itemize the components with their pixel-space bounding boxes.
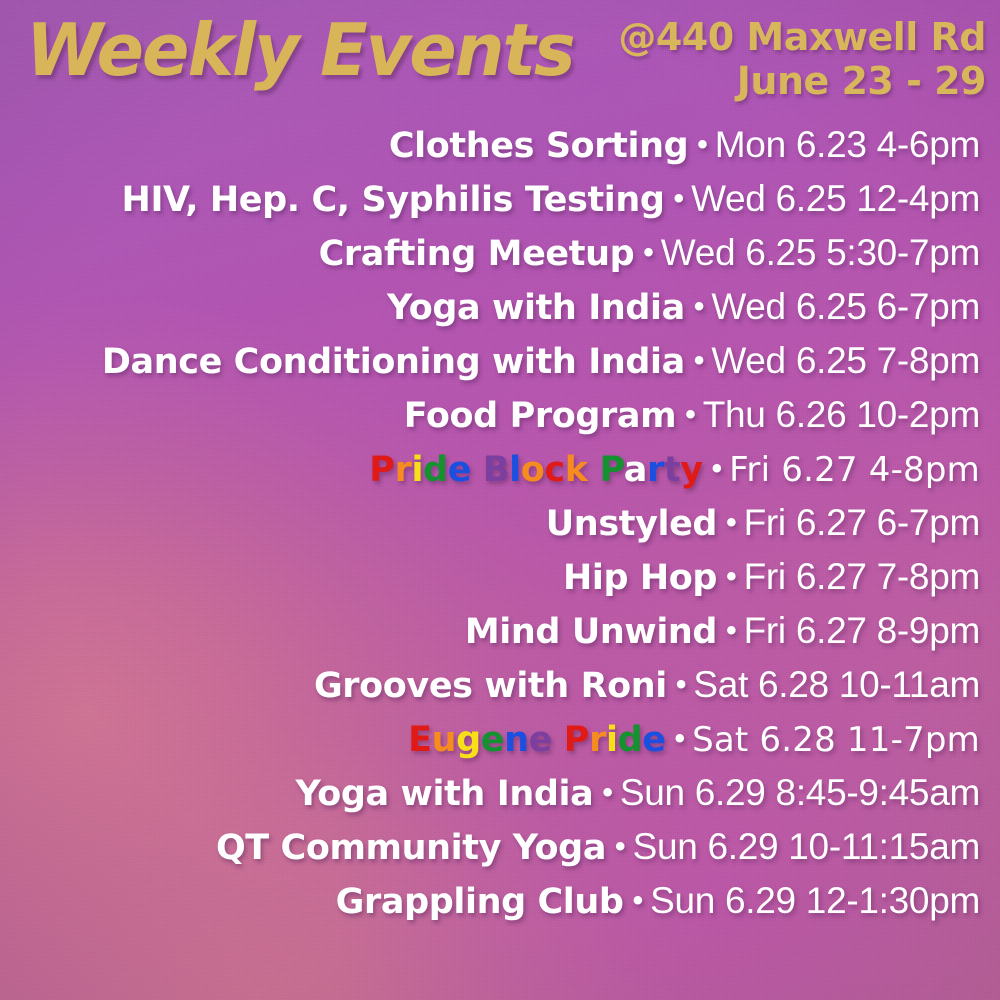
bullet-separator-icon: •	[667, 668, 694, 701]
event-title-letter: d	[618, 720, 643, 760]
bullet-separator-icon: •	[703, 452, 730, 485]
bullet-separator-icon: •	[717, 506, 744, 539]
event-row: Clothes Sorting•Mon 6.23 4-6pm	[0, 118, 980, 172]
event-title-letter: o	[521, 450, 545, 490]
event-title-letter: e	[642, 720, 665, 760]
event-title: Dance Conditioning with India	[102, 342, 685, 382]
bullet-separator-icon: •	[688, 128, 715, 161]
event-time: Mon 6.23 4-6pm	[715, 124, 980, 165]
bullet-separator-icon: •	[634, 236, 661, 269]
event-title: Mind Unwind	[465, 612, 717, 652]
event-row: Mind Unwind•Fri 6.27 8-9pm	[0, 604, 980, 658]
event-title: Yoga with India	[296, 774, 594, 814]
event-title: Unstyled	[546, 504, 717, 544]
event-title-letter: c	[544, 450, 564, 490]
event-title-letter: t	[664, 450, 680, 490]
event-time: Fri 6.27 6-7pm	[744, 502, 980, 543]
event-title: QT Community Yoga	[216, 828, 606, 868]
event-title: Food Program	[404, 396, 676, 436]
event-title: Clothes Sorting	[389, 126, 688, 166]
event-title-letter: P	[564, 720, 589, 760]
event-title-letter: r	[647, 450, 664, 490]
event-title: Grooves with Roni	[314, 666, 667, 706]
event-title: Pride Block Party	[369, 450, 702, 490]
event-row: Grappling Club•Sun 6.29 12-1:30pm	[0, 874, 980, 928]
event-title-letter: a	[624, 450, 647, 490]
bullet-separator-icon: •	[666, 722, 693, 755]
event-list: Clothes Sorting•Mon 6.23 4-6pmHIV, Hep. …	[0, 118, 1000, 928]
event-row: Pride Block Party•Fri 6.27 4-8pm	[0, 442, 980, 496]
event-time: Fri 6.27 8-9pm	[744, 610, 980, 651]
bullet-separator-icon: •	[593, 776, 620, 809]
event-row: Eugene Pride•Sat 6.28 11-7pm	[0, 712, 980, 766]
event-time: Wed 6.25 6-7pm	[711, 286, 980, 327]
event-row: Grooves with Roni•Sat 6.28 10-11am	[0, 658, 980, 712]
event-title-letter: e	[448, 450, 471, 490]
event-title-letter: d	[423, 450, 448, 490]
event-title-letter: P	[369, 450, 394, 490]
event-row: Unstyled•Fri 6.27 6-7pm	[0, 496, 980, 550]
event-time: Fri 6.27 4-8pm	[729, 450, 980, 490]
bullet-separator-icon: •	[685, 290, 712, 323]
weekly-events-flyer: Weekly Events @440 Maxwell Rd June 23 - …	[0, 0, 1000, 1000]
event-title-letter: l	[509, 450, 521, 490]
event-title: HIV, Hep. C, Syphilis Testing	[122, 180, 665, 220]
event-title-letter: e	[481, 720, 504, 760]
venue-address: @440 Maxwell Rd	[566, 18, 986, 58]
event-row: Yoga with India•Wed 6.25 6-7pm	[0, 280, 980, 334]
event-time: Wed 6.25 7-8pm	[711, 340, 980, 381]
event-title-letter	[588, 450, 600, 490]
date-range: June 23 - 29	[566, 62, 986, 102]
bullet-separator-icon: •	[717, 560, 744, 593]
event-title: Hip Hop	[563, 558, 717, 598]
event-title-letter: n	[504, 720, 529, 760]
event-title-letter: P	[599, 450, 623, 490]
event-title-letter: E	[408, 720, 432, 760]
event-title-letter: r	[395, 450, 412, 490]
event-title-letter: g	[456, 720, 481, 760]
flyer-header: Weekly Events @440 Maxwell Rd June 23 - …	[0, 0, 1000, 122]
event-title: Eugene Pride	[408, 720, 665, 760]
event-row: HIV, Hep. C, Syphilis Testing•Wed 6.25 1…	[0, 172, 980, 226]
event-time: Wed 6.25 12-4pm	[691, 178, 980, 219]
event-time: Sun 6.29 8:45-9:45am	[620, 772, 980, 813]
event-title: Yoga with India	[387, 288, 685, 328]
event-row: Dance Conditioning with India•Wed 6.25 7…	[0, 334, 980, 388]
event-title: Crafting Meetup	[319, 234, 635, 274]
event-title-letter: i	[411, 450, 423, 490]
event-time: Thu 6.26 10-2pm	[703, 394, 980, 435]
page-title: Weekly Events	[26, 14, 574, 86]
event-title-letter: i	[606, 720, 618, 760]
event-title-letter: e	[529, 720, 552, 760]
event-title-letter	[552, 720, 564, 760]
event-row: Yoga with India•Sun 6.29 8:45-9:45am	[0, 766, 980, 820]
event-time: Wed 6.25 5:30-7pm	[661, 232, 980, 273]
event-title-letter: B	[483, 450, 509, 490]
event-title-letter: k	[565, 450, 588, 490]
bullet-separator-icon: •	[665, 182, 692, 215]
bullet-separator-icon: •	[685, 344, 712, 377]
bullet-separator-icon: •	[624, 884, 651, 917]
event-time: Sat 6.28 11-7pm	[692, 720, 980, 760]
event-title-letter: u	[432, 720, 457, 760]
event-time: Fri 6.27 7-8pm	[744, 556, 980, 597]
event-row: Crafting Meetup•Wed 6.25 5:30-7pm	[0, 226, 980, 280]
event-time: Sun 6.29 10-11:15am	[633, 826, 980, 867]
event-row: Hip Hop•Fri 6.27 7-8pm	[0, 550, 980, 604]
event-title-letter	[471, 450, 483, 490]
event-title-letter: r	[589, 720, 606, 760]
event-title-letter: y	[680, 450, 702, 490]
event-time: Sat 6.28 10-11am	[693, 664, 980, 705]
event-title: Grappling Club	[336, 882, 624, 922]
header-details: @440 Maxwell Rd June 23 - 29	[566, 18, 986, 101]
event-row: QT Community Yoga•Sun 6.29 10-11:15am	[0, 820, 980, 874]
bullet-separator-icon: •	[606, 830, 633, 863]
bullet-separator-icon: •	[676, 398, 703, 431]
event-row: Food Program•Thu 6.26 10-2pm	[0, 388, 980, 442]
event-time: Sun 6.29 12-1:30pm	[650, 880, 980, 921]
bullet-separator-icon: •	[717, 614, 744, 647]
